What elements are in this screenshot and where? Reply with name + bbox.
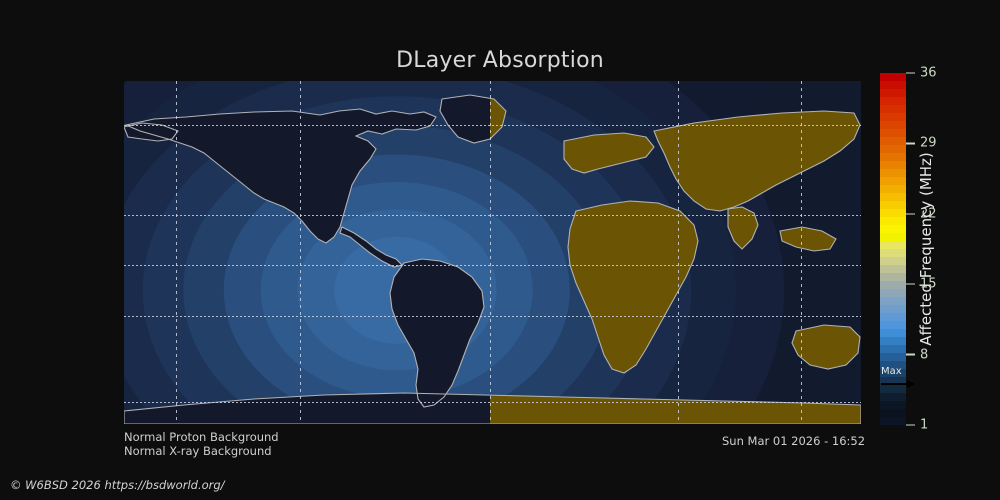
colorbar-segment-0 bbox=[880, 73, 906, 81]
max-marker: Max bbox=[881, 367, 921, 393]
colorbar-segment-41 bbox=[880, 401, 906, 409]
colorbar-segment-32 bbox=[880, 329, 906, 337]
colorbar-segment-22 bbox=[880, 249, 906, 257]
colorbar-tick-dash bbox=[906, 283, 915, 285]
colorbar-segment-19 bbox=[880, 225, 906, 233]
colorbar-segment-1 bbox=[880, 81, 906, 89]
colorbar-segment-12 bbox=[880, 169, 906, 177]
colorbar-segment-31 bbox=[880, 321, 906, 329]
colorbar-segment-6 bbox=[880, 121, 906, 129]
colorbar-segment-9 bbox=[880, 145, 906, 153]
colorbar-segment-28 bbox=[880, 297, 906, 305]
colorbar-segment-16 bbox=[880, 201, 906, 209]
colorbar-segment-25 bbox=[880, 273, 906, 281]
colorbar-tick-dash bbox=[906, 213, 915, 215]
colorbar-segment-24 bbox=[880, 265, 906, 273]
max-marker-label: Max bbox=[881, 367, 921, 377]
colorbar-segment-35 bbox=[880, 353, 906, 361]
colorbar-segment-29 bbox=[880, 305, 906, 313]
colorbar-tick-dash bbox=[906, 143, 915, 145]
colorbar-segment-7 bbox=[880, 129, 906, 137]
colorbar-segment-20 bbox=[880, 233, 906, 241]
colorbar-segment-34 bbox=[880, 345, 906, 353]
colorbar-tick-dash bbox=[906, 424, 915, 426]
colorbar-segment-33 bbox=[880, 337, 906, 345]
copyright-notice: © W6BSD 2026 https://bsdworld.org/ bbox=[10, 478, 225, 492]
xray-status: Normal X-ray Background bbox=[124, 444, 272, 458]
colorbar-segment-42 bbox=[880, 409, 906, 417]
colorbar-segment-2 bbox=[880, 89, 906, 97]
colorbar-segment-40 bbox=[880, 393, 906, 401]
page-title: DLayer Absorption bbox=[0, 48, 1000, 73]
colorbar-axis-label-text: Affected Frequency (MHz) bbox=[917, 152, 935, 346]
colorbar-tick-dash bbox=[906, 72, 915, 74]
colorbar-segment-43 bbox=[880, 417, 906, 425]
colorbar-segment-5 bbox=[880, 113, 906, 121]
app-root: DLayer Absorption bbox=[0, 0, 1000, 500]
colorbar-segment-17 bbox=[880, 209, 906, 217]
colorbar-segment-3 bbox=[880, 97, 906, 105]
proton-status: Normal Proton Background bbox=[124, 430, 279, 444]
colorbar-segment-8 bbox=[880, 137, 906, 145]
colorbar-segment-15 bbox=[880, 193, 906, 201]
colorbar-segment-10 bbox=[880, 153, 906, 161]
colorbar-segment-30 bbox=[880, 313, 906, 321]
colorbar-segment-23 bbox=[880, 257, 906, 265]
colorbar-segment-4 bbox=[880, 105, 906, 113]
colorbar-segment-27 bbox=[880, 289, 906, 297]
colorbar-segment-14 bbox=[880, 185, 906, 193]
colorbar-segment-18 bbox=[880, 217, 906, 225]
map-plot[interactable] bbox=[124, 81, 861, 424]
continent-outlines bbox=[124, 81, 861, 424]
colorbar-tick-dash bbox=[906, 354, 915, 356]
colorbar-segment-21 bbox=[880, 241, 906, 249]
max-marker-arrow-icon bbox=[881, 380, 915, 387]
colorbar-segment-11 bbox=[880, 161, 906, 169]
timestamp: Sun Mar 01 2026 - 16:52 bbox=[722, 434, 865, 448]
colorbar-segment-26 bbox=[880, 281, 906, 289]
colorbar-segment-13 bbox=[880, 177, 906, 185]
